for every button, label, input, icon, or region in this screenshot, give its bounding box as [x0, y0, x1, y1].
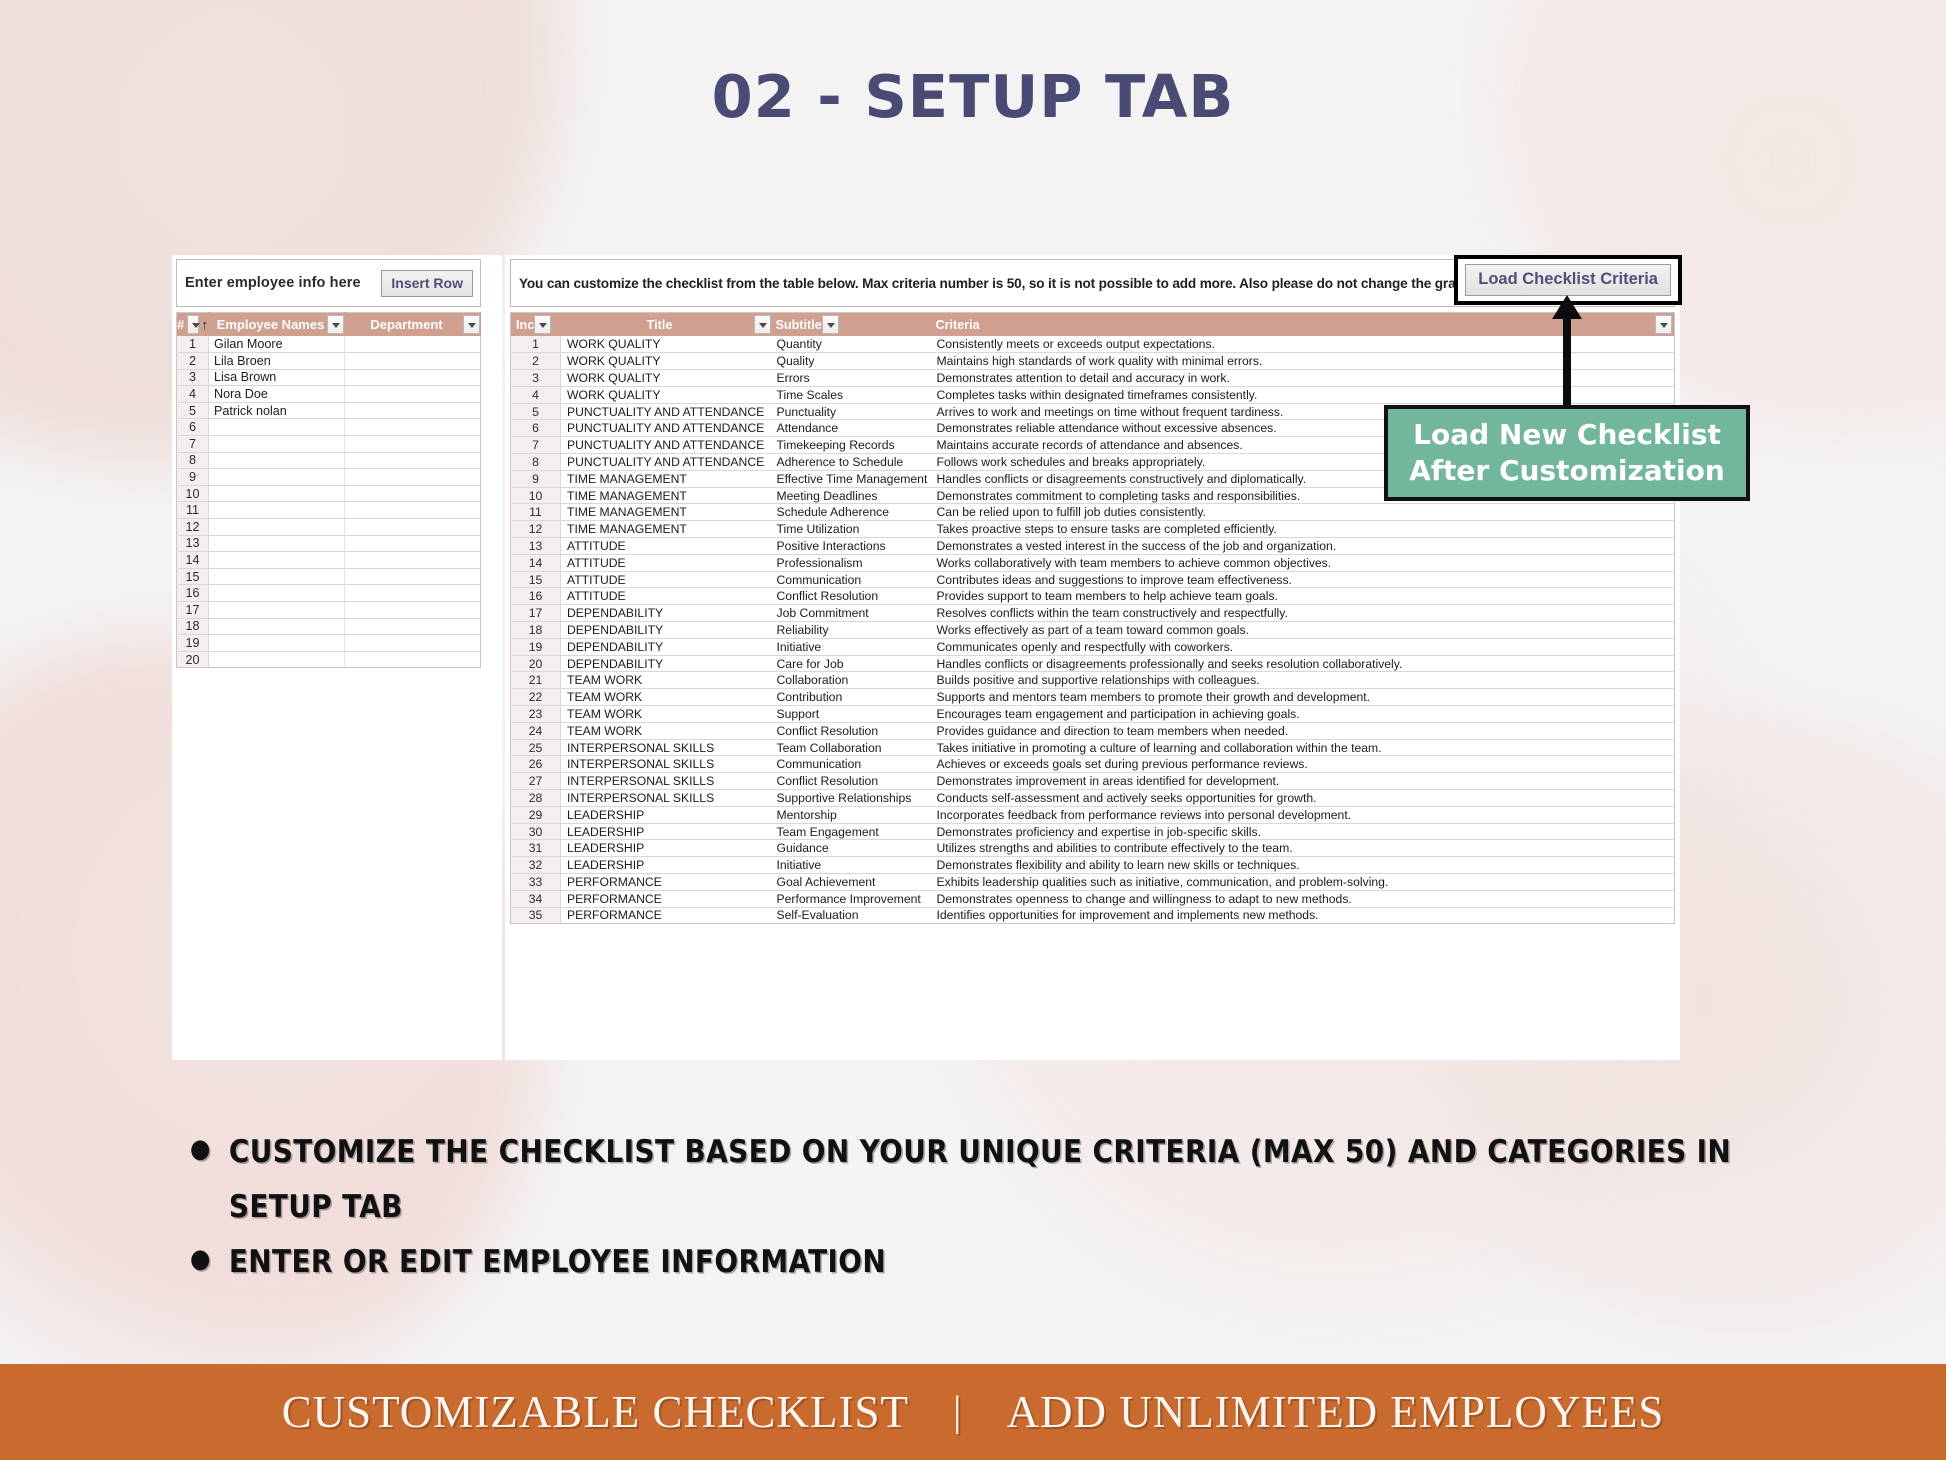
row-number: 13 — [177, 535, 209, 552]
employee-department-cell[interactable] — [345, 452, 481, 469]
table-row[interactable]: 20DEPENDABILITYCare for JobHandles confl… — [511, 655, 1675, 672]
employee-department-cell[interactable] — [345, 519, 481, 536]
criteria-subtitle-cell[interactable]: Team Collaboration — [771, 739, 931, 756]
table-row[interactable]: 15ATTITUDECommunicationContributes ideas… — [511, 571, 1675, 588]
list-item-label: CUSTOMIZE THE CHECKLIST BASED ON YOUR UN… — [229, 1125, 1790, 1235]
row-number: 19 — [511, 638, 561, 655]
table-row[interactable]: 33PERFORMANCEGoal AchievementExhibits le… — [511, 874, 1675, 891]
table-row[interactable]: 34PERFORMANCEPerformance ImprovementDemo… — [511, 890, 1675, 907]
criteria-title-cell[interactable]: PUNCTUALITY AND ATTENDANCE — [561, 420, 771, 437]
employee-department-cell[interactable] — [345, 419, 481, 436]
criteria-subtitle-cell[interactable]: Errors — [771, 370, 931, 387]
table-row[interactable]: 21TEAM WORKCollaborationBuilds positive … — [511, 672, 1675, 689]
table-row[interactable]: 7 — [177, 436, 481, 453]
bullet-dot-icon: ● — [190, 1125, 211, 1174]
criteria-title-cell[interactable]: ATTITUDE — [561, 571, 771, 588]
criteria-title-cell[interactable]: PUNCTUALITY AND ATTENDANCE — [561, 454, 771, 471]
row-number: 18 — [177, 618, 209, 635]
row-number: 20 — [511, 655, 561, 672]
criteria-subtitle-cell[interactable]: Communication — [771, 756, 931, 773]
employee-department-cell[interactable] — [345, 436, 481, 453]
footer-separator: | — [953, 1388, 962, 1436]
criteria-subtitle-cell[interactable]: Job Commitment — [771, 605, 931, 622]
criteria-title-cell[interactable]: TIME MANAGEMENT — [561, 504, 771, 521]
table-row[interactable]: 4Nora Doe — [177, 386, 481, 403]
callout-box: Load New Checklist After Customization — [1384, 405, 1750, 501]
criteria-title-cell[interactable]: TEAM WORK — [561, 722, 771, 739]
criteria-title-cell[interactable]: LEADERSHIP — [561, 857, 771, 874]
row-number: 17 — [177, 602, 209, 619]
filter-dropdown-icon[interactable] — [1655, 315, 1672, 334]
row-number: 3 — [177, 369, 209, 386]
row-number: 22 — [511, 689, 561, 706]
employee-department-cell[interactable] — [345, 485, 481, 502]
criteria-title-cell[interactable]: DEPENDABILITY — [561, 622, 771, 639]
criteria-title-cell[interactable]: LEADERSHIP — [561, 840, 771, 857]
employee-name-cell[interactable]: Lila Broen — [209, 353, 345, 370]
row-number: 25 — [511, 739, 561, 756]
row-number: 24 — [511, 722, 561, 739]
row-number: 15 — [177, 568, 209, 585]
row-number: 17 — [511, 605, 561, 622]
table-row[interactable]: 35PERFORMANCESelf-EvaluationIdentifies o… — [511, 907, 1675, 924]
row-number: 14 — [177, 552, 209, 569]
criteria-title-cell[interactable]: WORK QUALITY — [561, 336, 771, 353]
criteria-title-cell[interactable]: PERFORMANCE — [561, 890, 771, 907]
employee-name-cell[interactable] — [209, 502, 345, 519]
criteria-description-cell[interactable]: Identifies opportunities for improvement… — [931, 907, 1675, 924]
criteria-subtitle-cell[interactable]: Communication — [771, 571, 931, 588]
row-number: 28 — [511, 790, 561, 807]
employee-department-cell[interactable] — [345, 618, 481, 635]
criteria-subtitle-cell[interactable]: Guidance — [771, 840, 931, 857]
criteria-description-cell[interactable]: Demonstrates openness to change and will… — [931, 890, 1675, 907]
list-item: ●CUSTOMIZE THE CHECKLIST BASED ON YOUR U… — [190, 1125, 1790, 1235]
employee-info-label: Enter employee info here — [185, 275, 361, 291]
employee-department-cell[interactable] — [345, 469, 481, 486]
criteria-title-cell[interactable]: WORK QUALITY — [561, 353, 771, 370]
table-row[interactable]: 31LEADERSHIPGuidanceUtilizes strengths a… — [511, 840, 1675, 857]
bullet-list: ●CUSTOMIZE THE CHECKLIST BASED ON YOUR U… — [190, 1125, 1790, 1291]
table-row[interactable]: 14 — [177, 552, 481, 569]
row-number: 1 — [177, 336, 209, 353]
employee-name-cell[interactable] — [209, 419, 345, 436]
row-number: 2 — [511, 353, 561, 370]
filter-dropdown-icon[interactable] — [534, 315, 551, 334]
criteria-col-criteria-label: Criteria — [936, 318, 980, 332]
table-row[interactable]: 2Lila Broen — [177, 353, 481, 370]
filter-dropdown-icon[interactable] — [822, 315, 839, 334]
employee-info-header-bar: Enter employee info here Insert Row — [176, 259, 481, 307]
callout-line-1: Load New Checklist — [1413, 417, 1721, 453]
criteria-title-cell[interactable]: WORK QUALITY — [561, 386, 771, 403]
criteria-description-cell[interactable]: Works collaboratively with team members … — [931, 554, 1675, 571]
table-row[interactable]: 8 — [177, 452, 481, 469]
table-row[interactable]: 19 — [177, 635, 481, 652]
criteria-table-header-row: Inc Title Subtitle Criteria — [511, 313, 1675, 337]
criteria-title-cell[interactable]: TIME MANAGEMENT — [561, 521, 771, 538]
table-row[interactable]: 6 — [177, 419, 481, 436]
criteria-subtitle-cell[interactable]: Conflict Resolution — [771, 722, 931, 739]
row-number: 10 — [177, 485, 209, 502]
load-checklist-criteria-button[interactable]: Load Checklist Criteria — [1465, 264, 1671, 296]
criteria-title-cell[interactable]: PERFORMANCE — [561, 907, 771, 924]
criteria-title-cell[interactable]: PERFORMANCE — [561, 874, 771, 891]
criteria-description-cell[interactable]: Demonstrates proficiency and expertise i… — [931, 823, 1675, 840]
criteria-description-cell[interactable]: Achieves or exceeds goals set during pre… — [931, 756, 1675, 773]
table-row[interactable]: 27INTERPERSONAL SKILLSConflict Resolutio… — [511, 773, 1675, 790]
filter-dropdown-icon[interactable] — [463, 315, 480, 334]
table-row[interactable]: 24TEAM WORKConflict ResolutionProvides g… — [511, 722, 1675, 739]
criteria-subtitle-cell[interactable]: Adherence to Schedule — [771, 454, 931, 471]
criteria-col-subtitle[interactable]: Subtitle — [771, 313, 931, 337]
employee-table-body: 1Gilan Moore2Lila Broen3Lisa Brown4Nora … — [177, 336, 481, 668]
table-row[interactable]: 9 — [177, 469, 481, 486]
employee-department-cell[interactable] — [345, 386, 481, 403]
criteria-title-cell[interactable]: ATTITUDE — [561, 588, 771, 605]
table-row[interactable]: 11TIME MANAGEMENTSchedule AdherenceCan b… — [511, 504, 1675, 521]
employee-name-cell[interactable] — [209, 651, 345, 668]
row-number: 5 — [177, 402, 209, 419]
criteria-subtitle-cell[interactable]: Punctuality — [771, 403, 931, 420]
employee-name-cell[interactable]: Lisa Brown — [209, 369, 345, 386]
row-number: 12 — [177, 519, 209, 536]
criteria-subtitle-cell[interactable]: Attendance — [771, 420, 931, 437]
table-row[interactable]: 17 — [177, 602, 481, 619]
criteria-col-index-label: Inc — [516, 318, 534, 332]
criteria-title-cell[interactable]: TIME MANAGEMENT — [561, 470, 771, 487]
criteria-description-cell[interactable]: Communicates openly and respectfully wit… — [931, 638, 1675, 655]
footer-right-text: ADD UNLIMITED EMPLOYEES — [1006, 1386, 1664, 1438]
criteria-subtitle-cell[interactable]: Performance Improvement — [771, 890, 931, 907]
employee-department-cell[interactable] — [345, 369, 481, 386]
criteria-subtitle-cell[interactable]: Conflict Resolution — [771, 588, 931, 605]
row-number: 11 — [511, 504, 561, 521]
table-row[interactable]: 26INTERPERSONAL SKILLSCommunicationAchie… — [511, 756, 1675, 773]
criteria-description-cell[interactable]: Exhibits leadership qualities such as in… — [931, 874, 1675, 891]
row-number: 27 — [511, 773, 561, 790]
row-number: 6 — [511, 420, 561, 437]
employee-name-cell[interactable] — [209, 452, 345, 469]
criteria-subtitle-cell[interactable]: Time Utilization — [771, 521, 931, 538]
employee-col-names[interactable]: Employee Names — [209, 313, 345, 337]
footer-banner: CUSTOMIZABLE CHECKLIST | ADD UNLIMITED E… — [0, 1364, 1946, 1460]
row-number: 32 — [511, 857, 561, 874]
row-number: 20 — [177, 651, 209, 668]
criteria-subtitle-cell[interactable]: Contribution — [771, 689, 931, 706]
criteria-title-cell[interactable]: TEAM WORK — [561, 672, 771, 689]
row-number: 4 — [511, 386, 561, 403]
criteria-title-cell[interactable]: PUNCTUALITY AND ATTENDANCE — [561, 437, 771, 454]
criteria-subtitle-cell[interactable]: Professionalism — [771, 554, 931, 571]
row-number: 14 — [511, 554, 561, 571]
table-row[interactable]: 23TEAM WORKSupportEncourages team engage… — [511, 706, 1675, 723]
criteria-description-cell[interactable]: Can be relied upon to fulfill job duties… — [931, 504, 1675, 521]
criteria-col-subtitle-label: Subtitle — [776, 318, 822, 332]
employee-department-cell[interactable] — [345, 651, 481, 668]
criteria-subtitle-cell[interactable]: Self-Evaluation — [771, 907, 931, 924]
employee-name-cell[interactable] — [209, 602, 345, 619]
criteria-description-cell[interactable]: Handles conflicts or disagreements profe… — [931, 655, 1675, 672]
table-row[interactable]: 20 — [177, 651, 481, 668]
employee-name-cell[interactable] — [209, 618, 345, 635]
criteria-subtitle-cell[interactable]: Collaboration — [771, 672, 931, 689]
employee-department-cell[interactable] — [345, 535, 481, 552]
table-row[interactable]: 11 — [177, 502, 481, 519]
criteria-note-text: You can customize the checklist from the… — [519, 276, 1505, 291]
employee-name-cell[interactable]: Nora Doe — [209, 386, 345, 403]
insert-row-button[interactable]: Insert Row — [381, 270, 473, 297]
employee-department-cell[interactable] — [345, 502, 481, 519]
filter-dropdown-icon[interactable] — [754, 315, 771, 334]
employee-name-cell[interactable]: Patrick nolan — [209, 402, 345, 419]
criteria-description-cell[interactable]: Demonstrates flexibility and ability to … — [931, 857, 1675, 874]
employee-department-cell[interactable] — [345, 353, 481, 370]
table-row[interactable]: 1WORK QUALITYQuantityConsistently meets … — [511, 336, 1675, 353]
employee-department-cell[interactable] — [345, 568, 481, 585]
row-number: 26 — [511, 756, 561, 773]
criteria-subtitle-cell[interactable]: Quality — [771, 353, 931, 370]
row-number: 16 — [177, 585, 209, 602]
criteria-note-bar: You can customize the checklist from the… — [510, 259, 1675, 307]
criteria-title-cell[interactable]: TEAM WORK — [561, 706, 771, 723]
row-number: 30 — [511, 823, 561, 840]
criteria-subtitle-cell[interactable]: Schedule Adherence — [771, 504, 931, 521]
employee-name-cell[interactable] — [209, 519, 345, 536]
criteria-description-cell[interactable]: Demonstrates improvement in areas identi… — [931, 773, 1675, 790]
callout-line-2: After Customization — [1409, 453, 1725, 489]
criteria-subtitle-cell[interactable]: Positive Interactions — [771, 538, 931, 555]
criteria-subtitle-cell[interactable]: Meeting Deadlines — [771, 487, 931, 504]
criteria-description-cell[interactable]: Supports and mentors team members to pro… — [931, 689, 1675, 706]
employee-name-cell[interactable] — [209, 568, 345, 585]
criteria-description-cell[interactable]: Works effectively as part of a team towa… — [931, 622, 1675, 639]
row-number: 33 — [511, 874, 561, 891]
criteria-description-cell[interactable]: Resolves conflicts within the team const… — [931, 605, 1675, 622]
list-item-label: ENTER OR EDIT EMPLOYEE INFORMATION — [229, 1235, 886, 1290]
table-row[interactable]: 17DEPENDABILITYJob CommitmentResolves co… — [511, 605, 1675, 622]
list-item: ●ENTER OR EDIT EMPLOYEE INFORMATION — [190, 1235, 1790, 1290]
employee-col-department[interactable]: Department — [345, 313, 481, 337]
criteria-title-cell[interactable]: DEPENDABILITY — [561, 605, 771, 622]
criteria-title-cell[interactable]: TIME MANAGEMENT — [561, 487, 771, 504]
criteria-subtitle-cell[interactable]: Effective Time Management — [771, 470, 931, 487]
employee-name-cell[interactable] — [209, 469, 345, 486]
row-number: 6 — [177, 419, 209, 436]
table-row[interactable]: 2WORK QUALITYQualityMaintains high stand… — [511, 353, 1675, 370]
criteria-subtitle-cell[interactable]: Support — [771, 706, 931, 723]
table-row[interactable]: 18DEPENDABILITYReliabilityWorks effectiv… — [511, 622, 1675, 639]
employee-department-cell[interactable] — [345, 602, 481, 619]
table-row[interactable]: 14ATTITUDEProfessionalismWorks collabora… — [511, 554, 1675, 571]
criteria-title-cell[interactable]: WORK QUALITY — [561, 370, 771, 387]
row-number: 7 — [177, 436, 209, 453]
employee-col-number-label: # — [177, 317, 184, 332]
employee-name-cell[interactable] — [209, 585, 345, 602]
criteria-subtitle-cell[interactable]: Supportive Relationships — [771, 790, 931, 807]
table-row[interactable]: 3WORK QUALITYErrorsDemonstrates attentio… — [511, 370, 1675, 387]
employee-name-cell[interactable]: Gilan Moore — [209, 336, 345, 353]
employee-department-cell[interactable] — [345, 336, 481, 353]
row-number: 12 — [511, 521, 561, 538]
criteria-subtitle-cell[interactable]: Mentorship — [771, 806, 931, 823]
employee-name-cell[interactable] — [209, 436, 345, 453]
table-row[interactable]: 5Patrick nolan — [177, 402, 481, 419]
criteria-subtitle-cell[interactable]: Conflict Resolution — [771, 773, 931, 790]
page-title: 02 - SETUP TAB — [0, 62, 1946, 131]
row-number: 34 — [511, 890, 561, 907]
employee-name-cell[interactable] — [209, 485, 345, 502]
employee-table-header-row: # ↑ Employee Names Department — [177, 313, 481, 337]
criteria-col-title[interactable]: Title — [561, 313, 771, 337]
criteria-description-cell[interactable]: Encourages team engagement and participa… — [931, 706, 1675, 723]
employee-department-cell[interactable] — [345, 402, 481, 419]
criteria-title-cell[interactable]: ATTITUDE — [561, 538, 771, 555]
table-row[interactable]: 30LEADERSHIPTeam EngagementDemonstrates … — [511, 823, 1675, 840]
criteria-table[interactable]: Inc Title Subtitle Criteria — [510, 312, 1675, 924]
table-row[interactable]: 12 — [177, 519, 481, 536]
criteria-title-cell[interactable]: INTERPERSONAL SKILLS — [561, 773, 771, 790]
employee-department-cell[interactable] — [345, 585, 481, 602]
footer-left-text: CUSTOMIZABLE CHECKLIST — [282, 1386, 909, 1438]
table-row[interactable]: 10 — [177, 485, 481, 502]
row-number: 2 — [177, 353, 209, 370]
criteria-description-cell[interactable]: Provides guidance and direction to team … — [931, 722, 1675, 739]
table-row[interactable]: 32LEADERSHIPInitiativeDemonstrates flexi… — [511, 857, 1675, 874]
employee-col-number[interactable]: # ↑ — [177, 313, 209, 337]
criteria-subtitle-cell[interactable]: Care for Job — [771, 655, 931, 672]
criteria-subtitle-cell[interactable]: Reliability — [771, 622, 931, 639]
row-number: 13 — [511, 538, 561, 555]
employee-name-cell[interactable] — [209, 552, 345, 569]
row-number: 1 — [511, 336, 561, 353]
row-number: 15 — [511, 571, 561, 588]
employee-name-cell[interactable] — [209, 635, 345, 652]
criteria-description-cell[interactable]: Provides support to team members to help… — [931, 588, 1675, 605]
table-row[interactable]: 13 — [177, 535, 481, 552]
criteria-title-cell[interactable]: LEADERSHIP — [561, 806, 771, 823]
table-row[interactable]: 29LEADERSHIPMentorshipIncorporates feedb… — [511, 806, 1675, 823]
criteria-description-cell[interactable]: Contributes ideas and suggestions to imp… — [931, 571, 1675, 588]
row-number: 9 — [511, 470, 561, 487]
criteria-description-cell[interactable]: Takes initiative in promoting a culture … — [931, 739, 1675, 756]
row-number: 3 — [511, 370, 561, 387]
row-number: 16 — [511, 588, 561, 605]
criteria-subtitle-cell[interactable]: Quantity — [771, 336, 931, 353]
bullet-dot-icon: ● — [190, 1235, 211, 1284]
table-row[interactable]: 1Gilan Moore — [177, 336, 481, 353]
criteria-title-cell[interactable]: PUNCTUALITY AND ATTENDANCE — [561, 403, 771, 420]
criteria-description-cell[interactable]: Builds positive and supportive relations… — [931, 672, 1675, 689]
criteria-subtitle-cell[interactable]: Initiative — [771, 638, 931, 655]
criteria-subtitle-cell[interactable]: Timekeeping Records — [771, 437, 931, 454]
table-row[interactable]: 28INTERPERSONAL SKILLSSupportive Relatio… — [511, 790, 1675, 807]
employee-col-names-label: Employee Names — [214, 317, 327, 332]
table-row[interactable]: 16 — [177, 585, 481, 602]
row-number: 23 — [511, 706, 561, 723]
criteria-title-cell[interactable]: TEAM WORK — [561, 689, 771, 706]
employee-table[interactable]: # ↑ Employee Names Department 1Gilan Moo… — [176, 312, 481, 668]
employee-department-cell[interactable] — [345, 635, 481, 652]
criteria-title-cell[interactable]: DEPENDABILITY — [561, 655, 771, 672]
criteria-description-cell[interactable]: Demonstrates a vested interest in the su… — [931, 538, 1675, 555]
row-number: 35 — [511, 907, 561, 924]
criteria-title-cell[interactable]: INTERPERSONAL SKILLS — [561, 756, 771, 773]
table-row[interactable]: 3Lisa Brown — [177, 369, 481, 386]
criteria-description-cell[interactable]: Conducts self-assessment and actively se… — [931, 790, 1675, 807]
criteria-subtitle-cell[interactable]: Initiative — [771, 857, 931, 874]
row-number: 11 — [177, 502, 209, 519]
criteria-subtitle-cell[interactable]: Time Scales — [771, 386, 931, 403]
row-number: 29 — [511, 806, 561, 823]
table-row[interactable]: 25INTERPERSONAL SKILLSTeam Collaboration… — [511, 739, 1675, 756]
row-number: 9 — [177, 469, 209, 486]
criteria-title-cell[interactable]: ATTITUDE — [561, 554, 771, 571]
employee-name-cell[interactable] — [209, 535, 345, 552]
criteria-title-cell[interactable]: INTERPERSONAL SKILLS — [561, 739, 771, 756]
table-row[interactable]: 4WORK QUALITYTime ScalesCompletes tasks … — [511, 386, 1675, 403]
table-row[interactable]: 19DEPENDABILITYInitiativeCommunicates op… — [511, 638, 1675, 655]
row-number: 7 — [511, 437, 561, 454]
employee-department-cell[interactable] — [345, 552, 481, 569]
table-row[interactable]: 18 — [177, 618, 481, 635]
criteria-col-title-label: Title — [566, 318, 754, 332]
row-number: 21 — [511, 672, 561, 689]
table-row[interactable]: 15 — [177, 568, 481, 585]
row-number: 8 — [177, 452, 209, 469]
row-number: 19 — [177, 635, 209, 652]
filter-dropdown-icon[interactable] — [187, 315, 198, 334]
row-number: 18 — [511, 622, 561, 639]
criteria-title-cell[interactable]: DEPENDABILITY — [561, 638, 771, 655]
criteria-col-index[interactable]: Inc — [511, 313, 561, 337]
table-row[interactable]: 13ATTITUDEPositive InteractionsDemonstra… — [511, 538, 1675, 555]
criteria-subtitle-cell[interactable]: Goal Achievement — [771, 874, 931, 891]
criteria-description-cell[interactable]: Takes proactive steps to ensure tasks ar… — [931, 521, 1675, 538]
row-number: 4 — [177, 386, 209, 403]
employee-col-department-label: Department — [350, 317, 463, 332]
table-row[interactable]: 16ATTITUDEConflict ResolutionProvides su… — [511, 588, 1675, 605]
sort-ascending-icon[interactable]: ↑ — [202, 318, 209, 331]
table-row[interactable]: 12TIME MANAGEMENTTime UtilizationTakes p… — [511, 521, 1675, 538]
criteria-title-cell[interactable]: INTERPERSONAL SKILLS — [561, 790, 771, 807]
criteria-subtitle-cell[interactable]: Team Engagement — [771, 823, 931, 840]
criteria-title-cell[interactable]: LEADERSHIP — [561, 823, 771, 840]
criteria-description-cell[interactable]: Incorporates feedback from performance r… — [931, 806, 1675, 823]
criteria-description-cell[interactable]: Utilizes strengths and abilities to cont… — [931, 840, 1675, 857]
filter-dropdown-icon[interactable] — [327, 315, 344, 334]
table-row[interactable]: 22TEAM WORKContributionSupports and ment… — [511, 689, 1675, 706]
row-number: 8 — [511, 454, 561, 471]
row-number: 10 — [511, 487, 561, 504]
row-number: 5 — [511, 403, 561, 420]
row-number: 31 — [511, 840, 561, 857]
